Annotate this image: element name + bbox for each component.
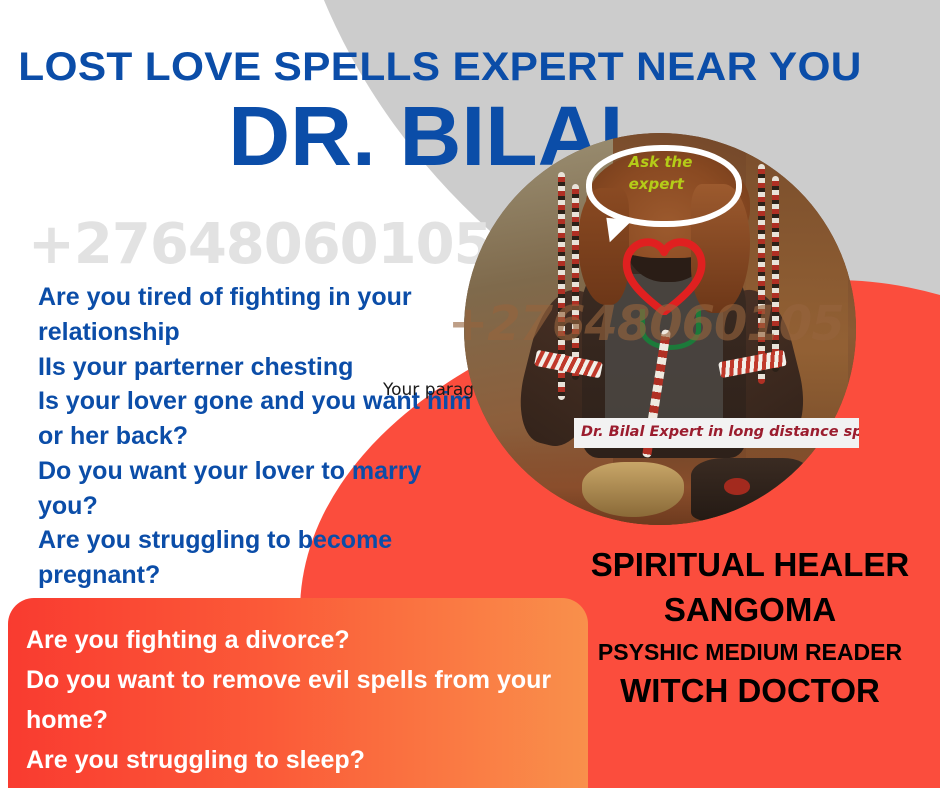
list-item: Do you want your lover to marry you? (38, 454, 478, 524)
list-item: Do you want to remove evil spells from y… (26, 660, 588, 740)
list-item: Are you tired of fighting in your relati… (38, 280, 478, 350)
questions-card-orange: Are you fighting a divorce? Do you want … (8, 598, 588, 788)
service-item: PSYSHIC MEDIUM READER (560, 639, 940, 667)
service-item: SPIRITUAL HEALER (560, 546, 940, 585)
list-item: Are you fighting a divorce? (26, 620, 588, 660)
phone-watermark-heading: +27648060105 (28, 212, 492, 277)
service-item: WITCH DOCTOR (560, 672, 940, 711)
phone-watermark-photo: +27648060105 (448, 296, 844, 352)
list-item: Are you struggling to sleep? (26, 740, 588, 780)
page-title: LOST LOVE SPELLS EXPERT NEAR YOU (0, 46, 906, 88)
questions-list-blue: Are you tired of fighting in your relati… (38, 280, 478, 593)
poster-canvas: LOST LOVE SPELLS EXPERT NEAR YOU DR. BIL… (0, 0, 940, 788)
speech-bubble-label: Ask the expert (629, 151, 747, 196)
services-list: SPIRITUAL HEALER SANGOMA PSYSHIC MEDIUM … (560, 546, 940, 711)
photo-bowl (582, 462, 684, 517)
service-item: SANGOMA (560, 591, 940, 630)
photo-caption: Dr. Bilal Expert in long distance spells… (574, 418, 859, 448)
photo-lap-items (691, 458, 809, 521)
list-item: Are you struggling to become pregnant? (38, 523, 478, 593)
